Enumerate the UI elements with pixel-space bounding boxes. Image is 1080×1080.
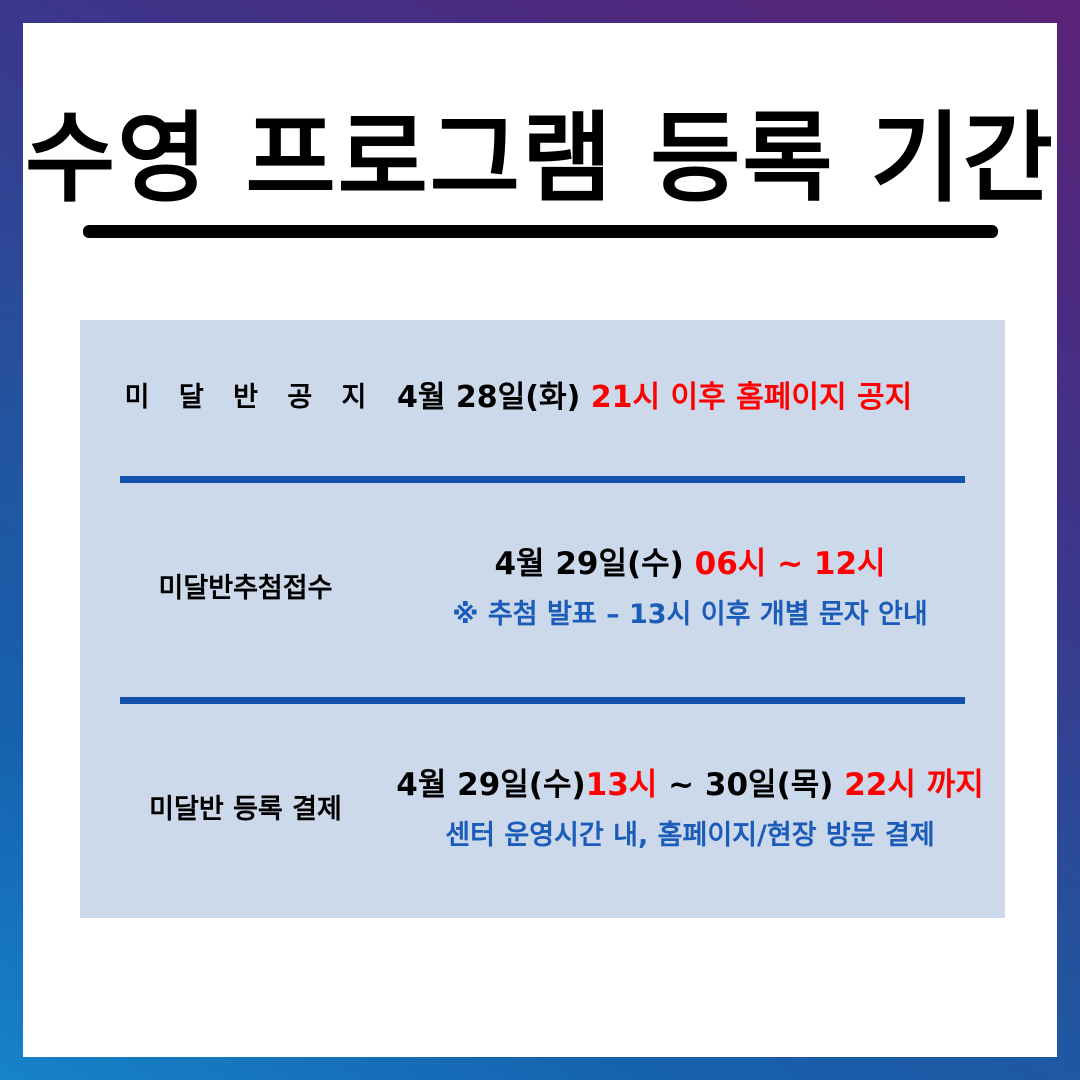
row-main-segment: 4월 29일(수) bbox=[494, 546, 694, 582]
row-main-segment-highlight: 13시 bbox=[586, 767, 658, 803]
row-label: 미 달 반 공 지 bbox=[98, 381, 393, 415]
row-content: 4월 28일(화) 21시 이후 홈페이지 공지 bbox=[393, 375, 987, 420]
title-underline bbox=[83, 225, 998, 238]
table-row: 미달반 등록 결제 4월 29일(수)13시 ~ 30일(목) 22시 까지 센… bbox=[80, 701, 1005, 918]
row-main-line: 4월 29일(수) 06시 ~ 12시 bbox=[393, 541, 987, 588]
row-main-segment-highlight: 22시 까지 bbox=[844, 767, 984, 803]
row-main-segment: 4월 29일(수) bbox=[396, 767, 585, 803]
table-row: 미달반추첨접수 4월 29일(수) 06시 ~ 12시 ※ 추첨 발표 – 13… bbox=[80, 480, 1005, 697]
row-sub-line: 센터 운영시간 내, 홈페이지/현장 방문 결제 bbox=[393, 816, 987, 857]
table-row: 미 달 반 공 지 4월 28일(화) 21시 이후 홈페이지 공지 bbox=[80, 320, 1005, 476]
row-main-line: 4월 29일(수)13시 ~ 30일(목) 22시 까지 bbox=[393, 762, 987, 809]
row-sub-line: ※ 추첨 발표 – 13시 이후 개별 문자 안내 bbox=[393, 595, 987, 636]
page-title: 수영 프로그램 등록 기간 bbox=[23, 108, 1057, 238]
row-main-segment: ~ 30일(목) bbox=[657, 767, 844, 803]
row-main-segment-highlight: 06시 ~ 12시 bbox=[695, 546, 886, 582]
row-main-line: 4월 28일(화) 21시 이후 홈페이지 공지 bbox=[397, 375, 987, 420]
row-label: 미달반 등록 결제 bbox=[98, 793, 393, 827]
row-label: 미달반추첨접수 bbox=[98, 572, 393, 606]
poster-canvas: 수영 프로그램 등록 기간 미 달 반 공 지 4월 28일(화) 21시 이후… bbox=[23, 23, 1057, 1057]
poster-frame: 수영 프로그램 등록 기간 미 달 반 공 지 4월 28일(화) 21시 이후… bbox=[0, 0, 1080, 1080]
row-content: 4월 29일(수)13시 ~ 30일(목) 22시 까지 센터 운영시간 내, … bbox=[393, 762, 987, 857]
page-title-text: 수영 프로그램 등록 기간 bbox=[23, 108, 1057, 211]
row-content: 4월 29일(수) 06시 ~ 12시 ※ 추첨 발표 – 13시 이후 개별 … bbox=[393, 541, 987, 636]
row-main-segment: 4월 28일(화) bbox=[397, 380, 591, 415]
schedule-table: 미 달 반 공 지 4월 28일(화) 21시 이후 홈페이지 공지 미달반추첨… bbox=[80, 320, 1005, 918]
row-main-segment-highlight: 21시 이후 홈페이지 공지 bbox=[591, 380, 912, 415]
